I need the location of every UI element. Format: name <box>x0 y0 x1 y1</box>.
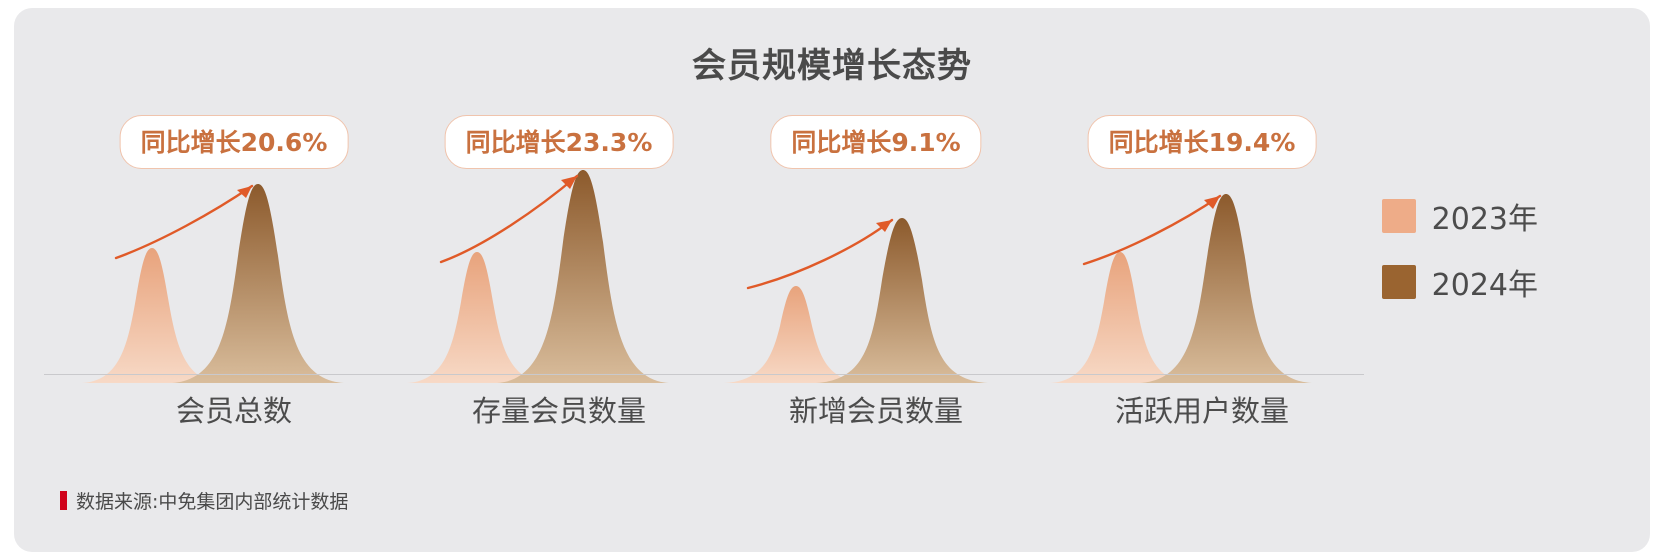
x-axis-line <box>44 374 1364 375</box>
bar-2023-2 <box>724 286 866 383</box>
bar-2024-2 <box>816 218 988 383</box>
bar-pair-0 <box>74 168 394 383</box>
legend-label-2023: 2023年 <box>1432 194 1538 238</box>
legend-swatch-2024 <box>1382 265 1416 299</box>
growth-badge-0: 同比增长20.6% <box>120 115 349 169</box>
bar-pair-2 <box>716 168 1036 383</box>
legend-item-2023: 2023年 <box>1382 194 1538 238</box>
plot-area: 同比增长20.6% 同比增长23.3% <box>14 103 1384 383</box>
source-note: 数据来源:中免集团内部统计数据 <box>60 487 348 514</box>
category-label-2: 新增会员数量 <box>716 388 1036 430</box>
category-label-3: 活跃用户数量 <box>1042 388 1362 430</box>
growth-badge-3: 同比增长19.4% <box>1088 115 1317 169</box>
growth-badge-1: 同比增长23.3% <box>445 115 674 169</box>
legend-swatch-2023 <box>1382 199 1416 233</box>
bar-group-1: 同比增长23.3% <box>399 103 719 383</box>
bar-2023-1 <box>407 252 547 383</box>
category-labels: 会员总数 存量会员数量 新增会员数量 活跃用户数量 <box>14 388 1384 432</box>
bar-2023-3 <box>1050 252 1190 383</box>
growth-badge-2: 同比增长9.1% <box>770 115 981 169</box>
bar-group-2: 同比增长9.1% <box>716 103 1036 383</box>
bar-pair-1 <box>399 168 719 383</box>
category-label-1: 存量会员数量 <box>399 388 719 430</box>
bar-pair-3 <box>1042 168 1362 383</box>
bar-group-3: 同比增长19.4% <box>1042 103 1362 383</box>
legend: 2023年 2024年 <box>1382 194 1538 304</box>
bar-2024-3 <box>1140 194 1312 383</box>
bar-2023-0 <box>82 248 222 383</box>
source-mark-icon <box>60 491 67 510</box>
bar-2024-0 <box>172 184 344 383</box>
source-text: 数据来源:中免集团内部统计数据 <box>76 487 348 514</box>
legend-label-2024: 2024年 <box>1432 260 1538 304</box>
category-label-0: 会员总数 <box>74 388 394 430</box>
page-title: 会员规模增长态势 <box>14 38 1650 87</box>
chart-card: 会员规模增长态势 同比增长20.6% <box>14 8 1650 552</box>
bar-group-0: 同比增长20.6% <box>74 103 394 383</box>
bar-2024-1 <box>497 170 669 383</box>
legend-item-2024: 2024年 <box>1382 260 1538 304</box>
